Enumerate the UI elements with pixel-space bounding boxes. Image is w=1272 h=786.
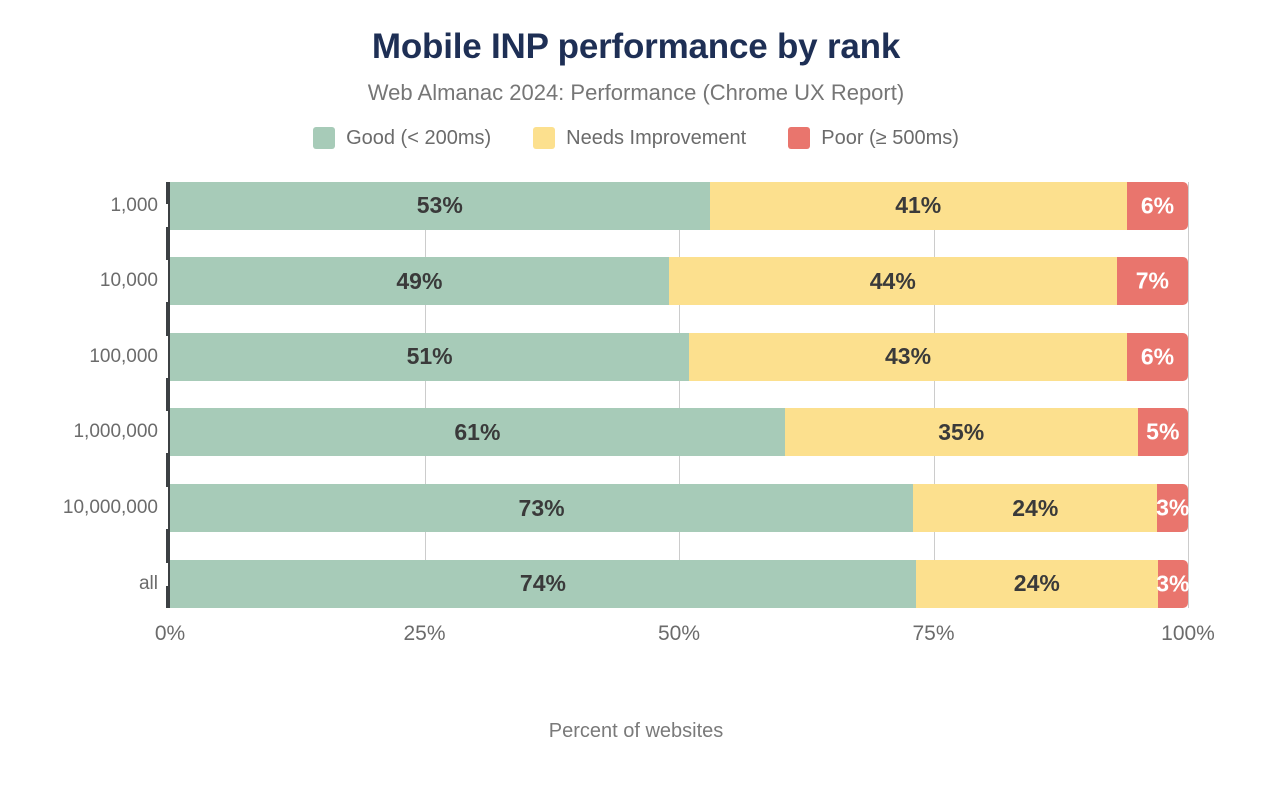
bar-value-label: 43%	[885, 345, 931, 368]
plot-area: 53%41%6%49%44%7%51%43%6%61%35%5%73%24%3%…	[170, 182, 1188, 608]
bar-segment-good[interactable]: 74%	[170, 560, 916, 608]
x-axis-tick-label: 50%	[658, 622, 700, 646]
page-title: Mobile INP performance by rank	[0, 28, 1272, 67]
bar-segment-poor[interactable]: 3%	[1157, 484, 1188, 532]
legend-label-poor: Poor (≥ 500ms)	[821, 127, 959, 150]
bar-value-label: 44%	[870, 270, 916, 293]
bar-value-label: 3%	[1156, 572, 1189, 595]
legend-label-good: Good (< 200ms)	[346, 127, 491, 150]
legend-item-poor[interactable]: Poor (≥ 500ms)	[788, 127, 959, 150]
bar-row[interactable]: 74%24%3%	[170, 560, 1188, 608]
y-axis-labels: 1,00010,000100,0001,000,00010,000,000all	[0, 182, 158, 608]
bar-segment-good[interactable]: 61%	[170, 408, 785, 456]
bar-segment-good[interactable]: 49%	[170, 257, 669, 305]
bar-segment-needs_improvement[interactable]: 24%	[916, 560, 1158, 608]
bar-value-label: 5%	[1146, 421, 1179, 444]
bar-segment-poor[interactable]: 6%	[1127, 182, 1188, 230]
x-axis-labels: 0%25%50%75%100%	[170, 622, 1188, 652]
bar-segment-needs_improvement[interactable]: 44%	[669, 257, 1117, 305]
bar-row[interactable]: 53%41%6%	[170, 182, 1188, 230]
bar-segment-needs_improvement[interactable]: 43%	[689, 333, 1127, 381]
x-axis-tick-label: 75%	[912, 622, 954, 646]
chart-header: Mobile INP performance by rank Web Alman…	[0, 0, 1272, 105]
bar-segment-needs_improvement[interactable]: 24%	[913, 484, 1157, 532]
bar-value-label: 6%	[1141, 194, 1174, 217]
y-axis-tick-label: 1,000,000	[0, 408, 158, 456]
bar-value-label: 24%	[1014, 572, 1060, 595]
x-axis-tick-label: 100%	[1161, 622, 1215, 646]
bar-segment-poor[interactable]: 6%	[1127, 333, 1188, 381]
bar-value-label: 35%	[938, 421, 984, 444]
bar-row[interactable]: 49%44%7%	[170, 257, 1188, 305]
y-axis-tick-label: all	[0, 560, 158, 608]
x-axis-tick-label: 25%	[403, 622, 445, 646]
legend-swatch-poor	[788, 127, 810, 149]
bar-value-label: 49%	[396, 270, 442, 293]
chart-legend: Good (< 200ms)Needs ImprovementPoor (≥ 5…	[0, 127, 1272, 150]
legend-swatch-good	[313, 127, 335, 149]
x-axis-tick-label: 0%	[155, 622, 185, 646]
y-axis-tick-label: 10,000,000	[0, 484, 158, 532]
bar-row[interactable]: 51%43%6%	[170, 333, 1188, 381]
bar-value-label: 7%	[1136, 270, 1169, 293]
bar-segment-poor[interactable]: 5%	[1138, 408, 1188, 456]
gridline	[1188, 182, 1189, 608]
plot-wrapper: 1,00010,000100,0001,000,00010,000,000all…	[0, 170, 1272, 640]
y-axis-tick-label: 1,000	[0, 182, 158, 230]
bar-segment-good[interactable]: 51%	[170, 333, 689, 381]
bar-value-label: 3%	[1156, 497, 1189, 520]
bar-row[interactable]: 61%35%5%	[170, 408, 1188, 456]
bar-segment-poor[interactable]: 7%	[1117, 257, 1188, 305]
legend-item-needs_improvement[interactable]: Needs Improvement	[533, 127, 746, 150]
bar-value-label: 6%	[1141, 345, 1174, 368]
bar-value-label: 41%	[895, 194, 941, 217]
bar-value-label: 53%	[417, 194, 463, 217]
bar-segment-good[interactable]: 73%	[170, 484, 913, 532]
y-axis-tick-label: 100,000	[0, 333, 158, 381]
y-axis-tick-label: 10,000	[0, 257, 158, 305]
bar-rows: 53%41%6%49%44%7%51%43%6%61%35%5%73%24%3%…	[170, 182, 1188, 608]
chart-subtitle: Web Almanac 2024: Performance (Chrome UX…	[0, 81, 1272, 105]
bar-value-label: 24%	[1012, 497, 1058, 520]
legend-swatch-needs_improvement	[533, 127, 555, 149]
bar-value-label: 74%	[520, 572, 566, 595]
bar-value-label: 51%	[407, 345, 453, 368]
bar-value-label: 61%	[454, 421, 500, 444]
bar-value-label: 73%	[519, 497, 565, 520]
bar-segment-good[interactable]: 53%	[170, 182, 710, 230]
bar-segment-needs_improvement[interactable]: 41%	[710, 182, 1127, 230]
bar-segment-poor[interactable]: 3%	[1158, 560, 1188, 608]
bar-row[interactable]: 73%24%3%	[170, 484, 1188, 532]
bar-segment-needs_improvement[interactable]: 35%	[785, 408, 1138, 456]
legend-item-good[interactable]: Good (< 200ms)	[313, 127, 491, 150]
x-axis-title: Percent of websites	[0, 720, 1272, 743]
legend-label-needs_improvement: Needs Improvement	[566, 127, 746, 150]
